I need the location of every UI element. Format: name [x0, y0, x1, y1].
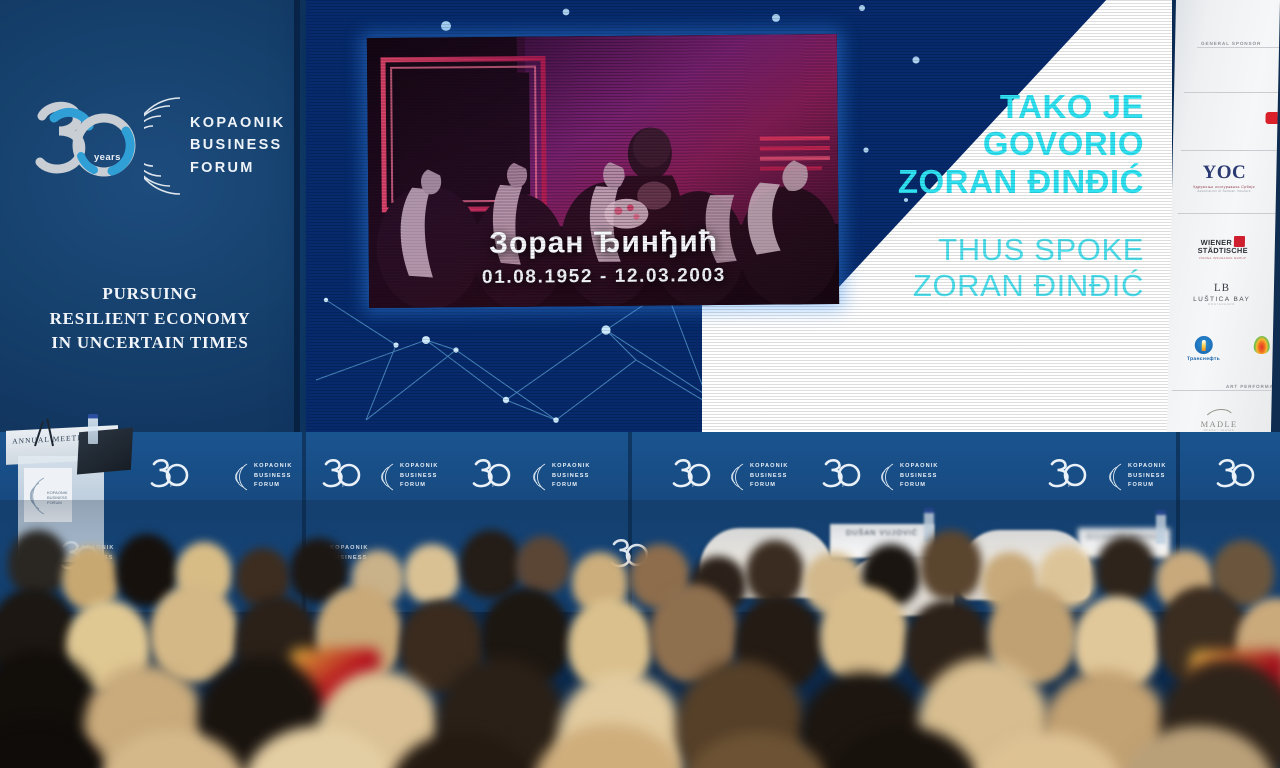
thirty-years-logo-icon: years: [672, 458, 712, 490]
sponsor-divider: [1178, 213, 1278, 214]
projection-screen: Зоран Ђинђић 01.08.1952 - 12.03.2003 TAK…: [306, 0, 1172, 434]
backdrop-30-logo: years: [472, 458, 512, 490]
sponsor-divider: [1172, 390, 1274, 391]
backdrop-30-logo: [1216, 458, 1256, 490]
backdrop-kbf-line-1: KOPAONIK: [750, 462, 789, 472]
kbf-arc-icon: [731, 462, 746, 492]
backdrop-kbf-line-3: FORUM: [400, 481, 439, 491]
sponsor-divider: [1184, 92, 1280, 93]
svg-text:years: years: [692, 482, 704, 487]
headline-line-3: ZORAN ĐINĐIĆ: [724, 163, 1144, 200]
backdrop-kbf-line-2: BUSINESS: [254, 472, 293, 482]
wiener-sub: VIENNA INSURANCE GROUP: [1171, 256, 1275, 260]
kbf-arc-icon: [144, 92, 190, 200]
forum-tagline: PURSUING RESILIENT ECONOMY IN UNCERTAIN …: [0, 282, 300, 356]
sponsor-divider: [1197, 47, 1280, 48]
madlenianum-swoosh-icon: [1206, 407, 1232, 417]
backdrop-kbf-line-3: FORUM: [254, 481, 293, 491]
tagline-line-3: IN UNCERTAIN TIMES: [0, 331, 300, 356]
transneft-icon: [1195, 336, 1213, 354]
backdrop-kbf-line-3: FORUM: [552, 481, 591, 491]
backdrop-kbf-line-2: BUSINESS: [1128, 472, 1167, 482]
lustica-label: LUŠTICA BAY: [1170, 296, 1274, 303]
backdrop-kbf-wordmark: KOPAONIK BUSINESS FORUM: [750, 462, 789, 491]
audience-head: [8, 530, 68, 596]
conference-hall-photo: years KOPAONIK BUSINESS FORUM PURSUING R…: [0, 0, 1280, 768]
kbf-line-3: FORUM: [190, 157, 285, 179]
sponsor-logo-transneft: Транснефть: [1180, 336, 1227, 362]
thirty-years-logo-icon: years: [322, 458, 362, 490]
tagline-line-2: RESILIENT ECONOMY: [0, 307, 300, 332]
kbf-arc-icon: [533, 462, 548, 492]
backdrop-30-logo: years: [322, 458, 362, 490]
sponsor-logo-madlenianum: MADLE OPERA I TEATAR: [1167, 402, 1272, 432]
backdrop-kbf-wordmark: KOPAONIK BUSINESS FORUM: [254, 462, 293, 491]
sponsor-board: GENERAL SPONSOR YOC Удружење осигуравача…: [1167, 0, 1280, 432]
uoc-mark: YOC: [1172, 162, 1276, 184]
backdrop-kbf-line-3: FORUM: [900, 481, 939, 491]
wiener-line-2: STÄDTISCHE: [1171, 247, 1275, 255]
water-bottle: [88, 414, 98, 444]
backdrop-kbf-line-2: BUSINESS: [900, 472, 939, 482]
backdrop-30-logo: years: [1048, 458, 1088, 490]
thirty-years-logo-icon: years: [150, 458, 190, 490]
kbf-line-2: BUSINESS: [190, 134, 285, 156]
thirty-years-logo-icon: years: [822, 458, 862, 490]
backdrop-kbf-wordmark: KOPAONIK BUSINESS FORUM: [1128, 462, 1167, 491]
uoc-sub-en: Association of Serbian Insurers: [1172, 189, 1276, 193]
svg-text:years: years: [170, 482, 182, 487]
kbf-arc-icon: [235, 462, 250, 492]
audience-head: [820, 586, 908, 684]
backdrop-kbf-wordmark: KOPAONIK BUSINESS FORUM: [900, 462, 939, 491]
backdrop-kbf-line-3: FORUM: [1128, 481, 1167, 491]
podium-laptop: [77, 427, 133, 474]
subheadline-line-1: THUS SPOKE: [724, 232, 1144, 268]
backdrop-kbf-line-2: BUSINESS: [750, 472, 789, 482]
kbf-wordmark: KOPAONIK BUSINESS FORUM: [190, 112, 285, 179]
backdrop-kbf-line-1: KOPAONIK: [1128, 462, 1167, 472]
years-label: years: [94, 152, 121, 163]
slide-subheadline: THUS SPOKE ZORAN ĐINĐIĆ: [724, 232, 1144, 305]
audience-head: [460, 530, 522, 598]
audience-head: [920, 530, 982, 600]
thirty-years-logo-icon: [32, 100, 142, 186]
kbf-logo-lockup: years KOPAONIK BUSINESS FORUM: [28, 96, 278, 206]
slide-white-lower: [702, 294, 1172, 434]
tagline-line-1: PURSUING: [0, 282, 300, 307]
backdrop-kbf-wordmark: KOPAONIK BUSINESS FORUM: [400, 462, 439, 491]
headline-line-2: GOVORIO: [724, 125, 1144, 162]
slide-headline: TAKO JE GOVORIO ZORAN ĐINĐIĆ: [724, 88, 1144, 200]
svg-text:years: years: [842, 482, 854, 487]
svg-text:years: years: [342, 482, 354, 487]
audience-head: [746, 540, 804, 604]
lustica-sub: MONTENEGRO: [1170, 303, 1274, 306]
sponsor-divider: [1181, 150, 1279, 151]
thirty-years-logo-icon: years: [472, 458, 512, 490]
madlenianum-label: MADLE: [1167, 420, 1271, 429]
subheadline-line-2: ZORAN ĐINĐIĆ: [724, 268, 1144, 304]
svg-text:years: years: [492, 482, 504, 487]
headline-line-1: TAKO JE: [724, 88, 1144, 125]
left-branding-banner: years KOPAONIK BUSINESS FORUM PURSUING R…: [0, 0, 300, 440]
backdrop-kbf-wordmark: KOPAONIK BUSINESS FORUM: [552, 462, 591, 491]
transneft-label: Транснефть: [1180, 356, 1226, 362]
kbf-line-1: KOPAONIK: [190, 112, 285, 134]
kbf-arc-icon: [381, 462, 396, 492]
flame-icon: [1254, 336, 1270, 354]
backdrop-kbf-line-1: KOPAONIK: [254, 462, 293, 472]
sponsor-logo-lustica-bay: LB LUŠTICA BAY MONTENEGRO: [1170, 282, 1275, 306]
audience-head: [516, 536, 570, 594]
backdrop-kbf-line-1: KOPAONIK: [552, 462, 591, 472]
audience-head: [404, 544, 460, 604]
audience-area: [0, 500, 1280, 768]
kbf-arc-icon: [881, 462, 896, 492]
lustica-monogram: LB: [1170, 282, 1274, 294]
thirty-years-logo-icon: years: [1048, 458, 1088, 490]
kbf-arc-icon: [1109, 462, 1124, 492]
audience-head: [1096, 536, 1156, 602]
backdrop-kbf-line-1: KOPAONIK: [400, 462, 439, 472]
sponsor-logo-wiener-staedtische: WIENER STÄDTISCHE VIENNA INSURANCE GROUP: [1171, 236, 1276, 260]
backdrop-30-logo: years: [150, 458, 190, 490]
backdrop-kbf-line-2: BUSINESS: [552, 472, 591, 482]
backdrop-30-logo: years: [672, 458, 712, 490]
backdrop-kbf-line-3: FORUM: [750, 481, 789, 491]
backdrop-kbf-line-1: KOPAONIK: [900, 462, 939, 472]
backdrop-30-logo: years: [822, 458, 862, 490]
backdrop-kbf-line-2: BUSINESS: [400, 472, 439, 482]
thirty-years-logo-icon: [1216, 458, 1256, 490]
svg-text:years: years: [1068, 482, 1080, 487]
general-sponsor-caption: GENERAL SPONSOR: [1201, 41, 1261, 46]
sponsor-logo-uoc: YOC Удружење осигуравача Србије Associat…: [1172, 162, 1277, 193]
